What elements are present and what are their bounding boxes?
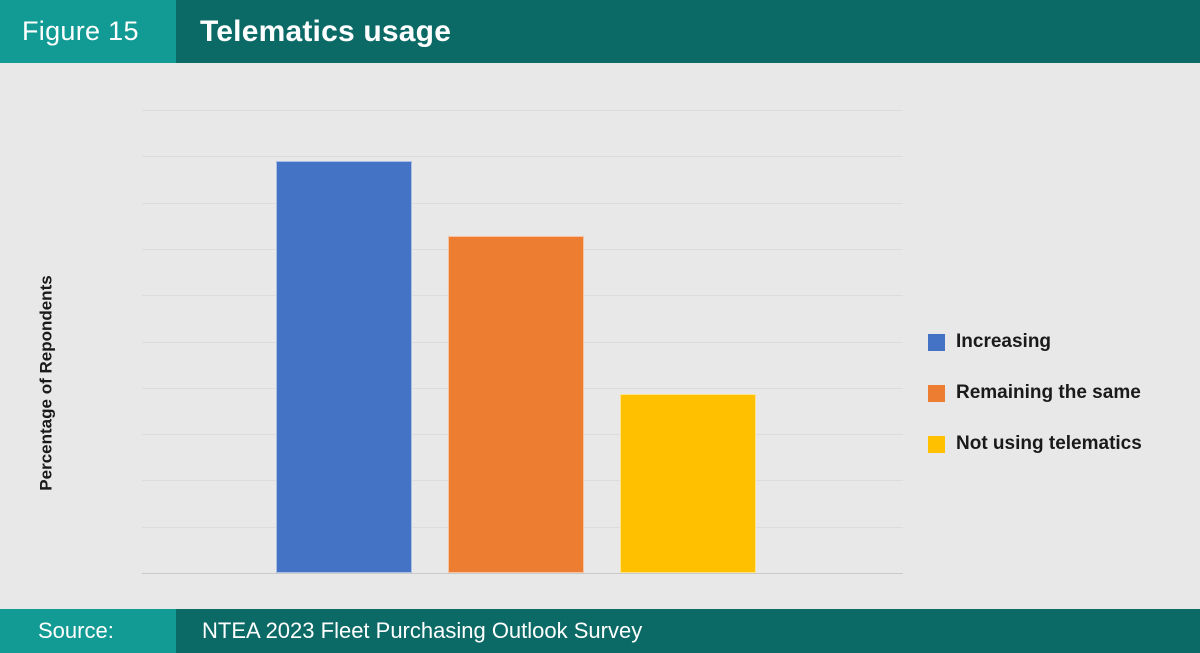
figure-footer: Source: NTEA 2023 Fleet Purchasing Outlo… <box>0 609 1200 653</box>
bar-not-using-telematics <box>620 394 756 573</box>
chart-plot-area: Percentage of Repondents 50%45%40%35%30%… <box>0 63 1200 609</box>
figure-header: Figure 15 Telematics usage <box>0 0 1200 63</box>
source-label-block: Source: <box>0 609 176 653</box>
legend-label: Remaining the same <box>956 382 1141 404</box>
figure-number-label: Figure 15 <box>22 16 139 47</box>
gridline <box>142 573 903 574</box>
source-label: Source: <box>38 618 114 644</box>
legend-label: Not using telematics <box>956 433 1142 455</box>
chart-bars <box>142 110 903 573</box>
bar-increasing <box>276 161 412 573</box>
page-title: Telematics usage <box>200 15 451 49</box>
legend-item[interactable]: Remaining the same <box>928 382 1190 404</box>
source-value-block: NTEA 2023 Fleet Purchasing Outlook Surve… <box>176 609 1200 653</box>
legend-item[interactable]: Not using telematics <box>928 433 1190 455</box>
figure-title-block: Telematics usage <box>176 0 1200 63</box>
legend-swatch-icon <box>928 436 945 453</box>
figure-number-block: Figure 15 <box>0 0 176 63</box>
legend-swatch-icon <box>928 385 945 402</box>
y-axis-title-text: Percentage of Repondents <box>37 275 57 490</box>
source-value: NTEA 2023 Fleet Purchasing Outlook Surve… <box>202 618 642 644</box>
legend-item[interactable]: Increasing <box>928 331 1190 353</box>
figure-container: Figure 15 Telematics usage Percentage of… <box>0 0 1200 653</box>
bar-remaining-the-same <box>448 236 584 573</box>
chart-legend: IncreasingRemaining the sameNot using te… <box>928 331 1190 484</box>
legend-swatch-icon <box>928 334 945 351</box>
legend-label: Increasing <box>956 331 1051 353</box>
y-axis-title: Percentage of Repondents <box>34 233 60 533</box>
